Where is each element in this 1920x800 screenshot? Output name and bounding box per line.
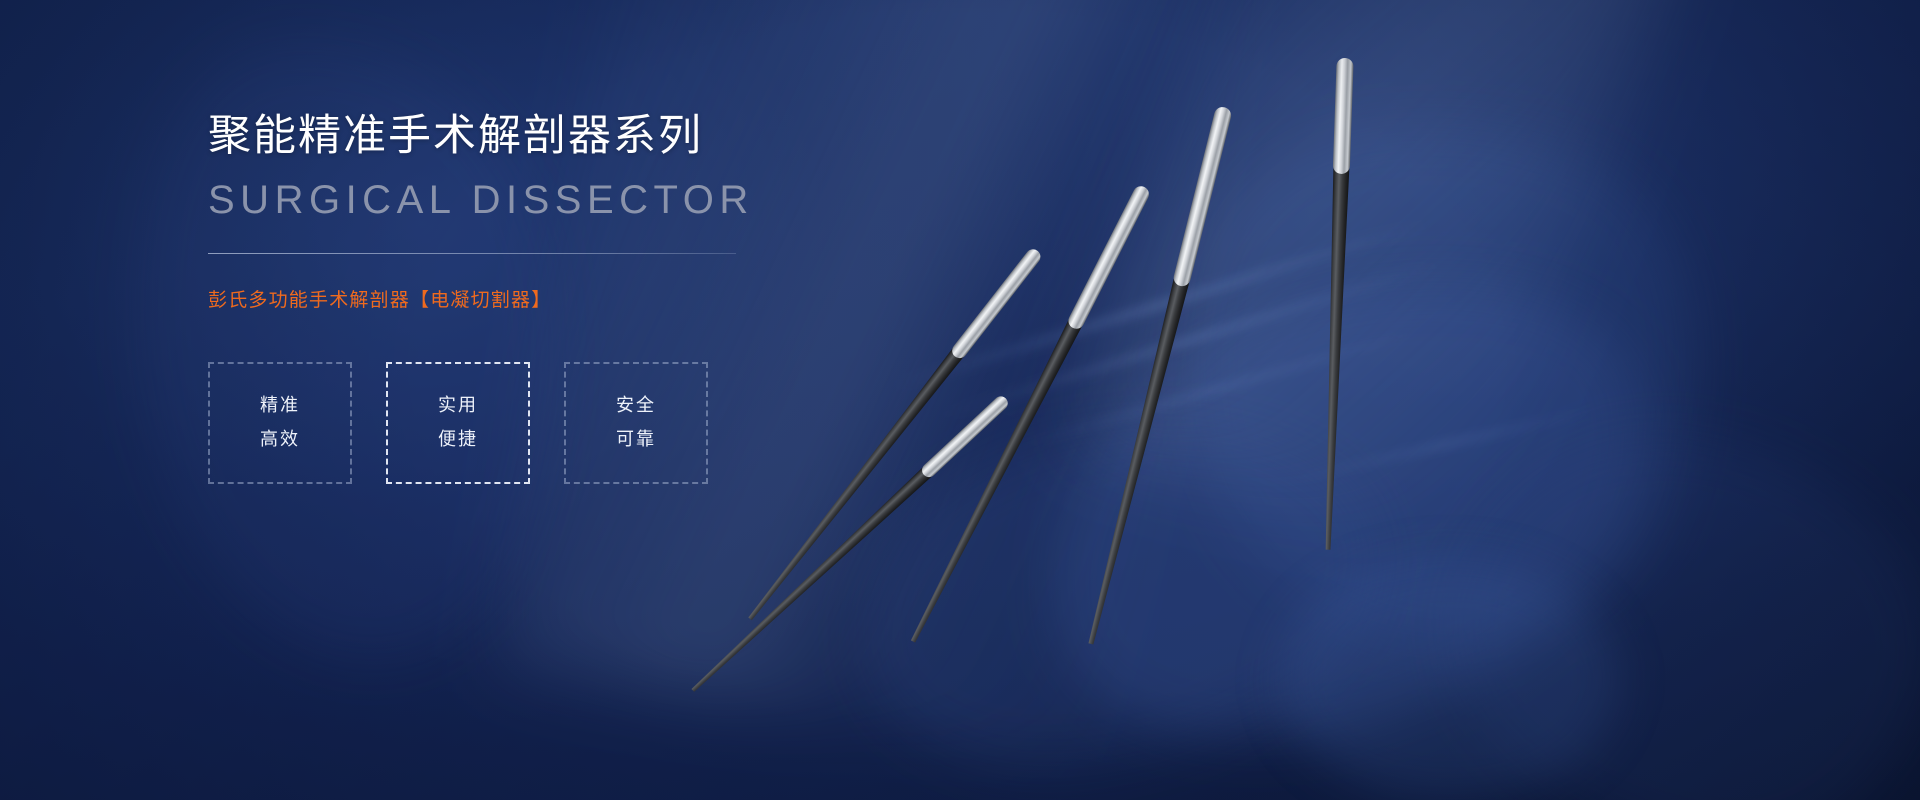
page-title: 聚能精准手术解剖器系列 <box>208 108 968 165</box>
title-divider <box>208 253 736 254</box>
feature-line-2: 可靠 <box>616 426 656 454</box>
product-name-label: 彭氏多功能手术解剖器【电凝切割器】 <box>208 288 968 315</box>
page-subtitle-english: SURGICAL DISSECTOR <box>208 175 968 225</box>
feature-box-practical: 实用 便捷 <box>386 362 530 484</box>
feature-line-1: 安全 <box>616 392 656 420</box>
feature-line-2: 便捷 <box>438 426 478 454</box>
feature-box-group: 精准 高效 实用 便捷 安全 可靠 <box>208 362 968 484</box>
feature-line-2: 高效 <box>260 426 300 454</box>
feature-box-precision: 精准 高效 <box>208 362 352 484</box>
banner-content: 聚能精准手术解剖器系列 SURGICAL DISSECTOR 彭氏多功能手术解剖… <box>208 108 968 484</box>
feature-line-1: 实用 <box>438 392 478 420</box>
feature-box-safety: 安全 可靠 <box>564 362 708 484</box>
feature-line-1: 精准 <box>260 392 300 420</box>
hero-banner: 聚能精准手术解剖器系列 SURGICAL DISSECTOR 彭氏多功能手术解剖… <box>0 0 1920 800</box>
